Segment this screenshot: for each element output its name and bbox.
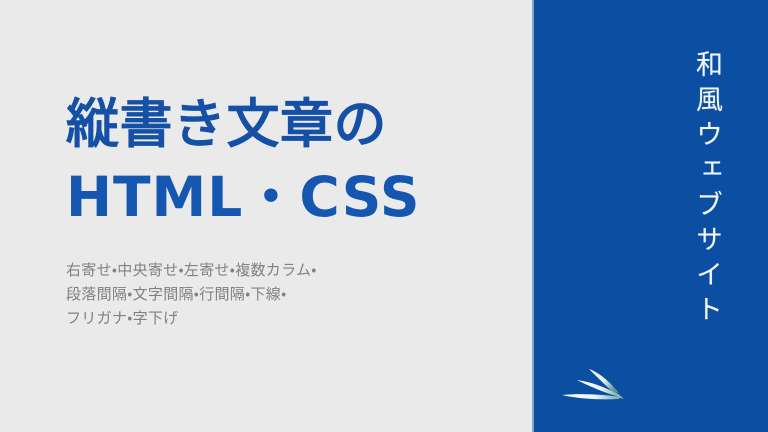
page-title-line-1: 縦書き文章の: [66, 88, 516, 162]
vertical-site-title: 和風ウェブサイト: [684, 50, 726, 350]
right-accent-panel: 和風ウェブサイト: [532, 0, 768, 432]
subtitle-line-2: 段落間隔・文字間隔・行間隔・下線・: [66, 282, 506, 306]
left-content-panel: 縦書き文章の HTML・CSS 右寄せ・中央寄せ・左寄せ・複数カラム・ 段落間隔…: [0, 0, 532, 432]
subtitle-line-3: フリガナ・字下げ: [66, 306, 506, 330]
page-title-line-2: HTML・CSS: [66, 164, 516, 230]
subtitle-list: 右寄せ・中央寄せ・左寄せ・複数カラム・ 段落間隔・文字間隔・行間隔・下線・ フリ…: [66, 258, 506, 330]
wing-feather-icon: [556, 362, 626, 404]
hero-banner: 縦書き文章の HTML・CSS 右寄せ・中央寄せ・左寄せ・複数カラム・ 段落間隔…: [0, 0, 768, 432]
subtitle-line-1: 右寄せ・中央寄せ・左寄せ・複数カラム・: [66, 258, 506, 282]
panel-divider: [532, 0, 534, 432]
page-title: 縦書き文章の HTML・CSS: [66, 88, 516, 230]
